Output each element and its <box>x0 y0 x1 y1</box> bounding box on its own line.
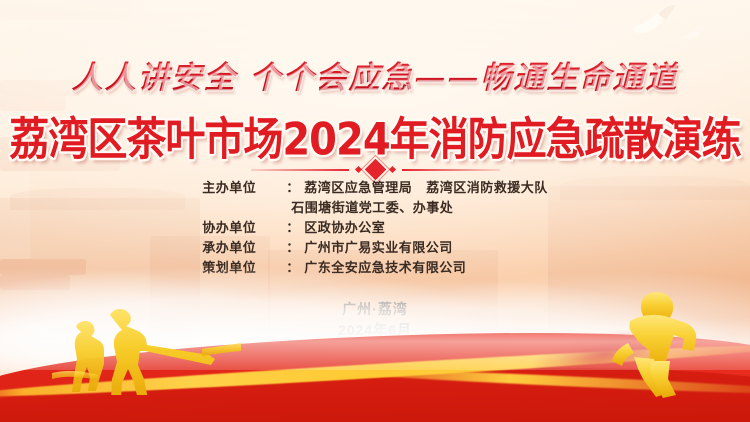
credit-value: 广州市广易实业有限公司 <box>304 238 453 258</box>
credit-row: 策划单位 ： 广东全安应急技术有限公司 <box>202 258 548 278</box>
credit-label: 策划单位 <box>202 258 286 278</box>
firefighter-rescue-silhouette-icon <box>600 291 712 404</box>
credits-block: 主办单位 ： 荔湾区应急管理局荔湾区消防救援大队 石围塘街道党工委、办事处 协办… <box>0 178 750 278</box>
credit-label: 主办单位 <box>202 178 286 198</box>
poster-banner: 人人讲安全 个个会应急——畅通生命通道 荔湾区茶叶市场2024年消防应急疏散演练… <box>0 0 750 422</box>
subtitle-row: 人人讲安全 个个会应急——畅通生命通道 <box>0 52 750 97</box>
credit-row: 主办单位 ： 荔湾区应急管理局荔湾区消防救援大队 <box>202 178 548 198</box>
credit-value: 区政协办公室 <box>304 218 385 238</box>
credit-label: 承办单位 <box>202 238 286 258</box>
credit-label: 协办单位 <box>202 218 286 238</box>
diamond-ornament-center-icon <box>364 159 385 180</box>
title-row: 荔湾区茶叶市场2024年消防应急疏散演练 <box>0 103 750 161</box>
firefighter-hose-silhouette-icon <box>52 307 242 400</box>
credit-row: 承办单位 ： 广州市广易实业有限公司 <box>202 238 548 258</box>
poster-subtitle: 人人讲安全 个个会应急——畅通生命通道 <box>72 52 679 97</box>
divider <box>0 162 750 177</box>
diamond-ornament-icon <box>388 166 395 173</box>
credit-colon: ： <box>286 218 299 238</box>
credit-colon: ： <box>286 258 299 278</box>
credit-value: 广东全安应急技术有限公司 <box>304 258 466 278</box>
credit-value: 荔湾区应急管理局荔湾区消防救援大队 <box>304 178 548 198</box>
credit-colon: ： <box>286 178 299 198</box>
diamond-ornament-icon <box>354 166 361 173</box>
credit-colon: ： <box>286 238 299 258</box>
credit-row: 石围塘街道党工委、办事处 <box>202 198 548 218</box>
divider-rule-left <box>251 169 349 171</box>
divider-rule-right <box>402 169 500 171</box>
credit-value: 石围塘街道党工委、办事处 <box>291 198 453 218</box>
dove-small-icon <box>680 24 706 47</box>
credit-row: 协办单位 ： 区政协办公室 <box>202 218 548 238</box>
dove-icon <box>628 4 680 43</box>
